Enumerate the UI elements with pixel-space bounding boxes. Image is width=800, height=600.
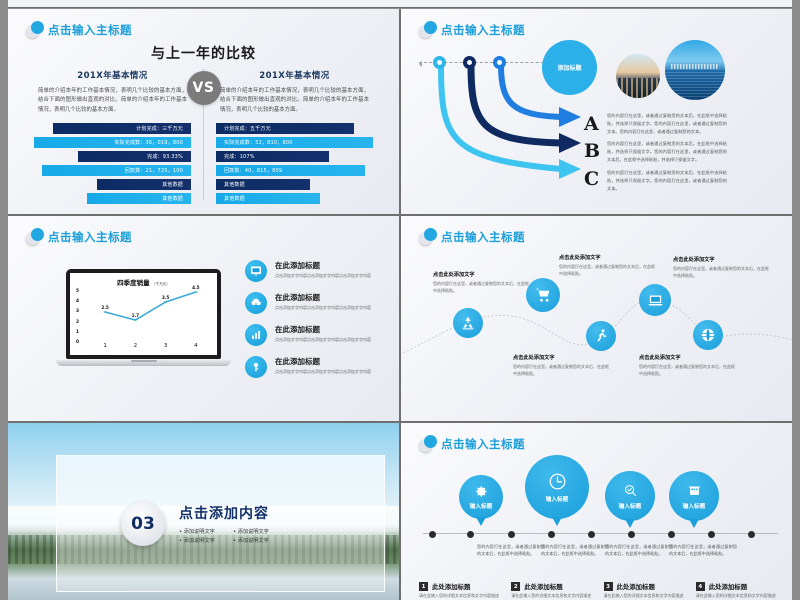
footer-title: 此处添加标题 bbox=[709, 582, 747, 591]
section-bullet: 添加说明文字 bbox=[233, 528, 269, 535]
feature-desc: 点击添加文字内容点击添加文字内容点击添加文字内容 bbox=[275, 337, 371, 344]
chart-data-label: 3.5 bbox=[162, 295, 169, 300]
right-paragraph: 简单的介绍本年的工作基本情况，表明几个比较的基本方面，结合下面的图形做出直观的对… bbox=[220, 87, 369, 115]
section-bullet: 添加说明文字 bbox=[233, 537, 269, 544]
comparison-bar: 完成：93.33% bbox=[78, 151, 191, 162]
footer-title: 此处添加标题 bbox=[524, 582, 562, 591]
process-node[interactable] bbox=[453, 308, 483, 338]
comparison-bar: 回款数：40，815，809 bbox=[216, 165, 365, 176]
slide-1-title: 与上一年的比较 bbox=[8, 43, 399, 63]
comparison-bar-label: 实际完成数：36，019，800 bbox=[114, 139, 183, 146]
section-card: 03 点击添加内容 添加说明文字添加说明文字添加说明文字添加说明文字 bbox=[56, 455, 385, 592]
footer-item[interactable]: 2此处添加标题请在此输入您的详细文本信息和文字内容描述 bbox=[511, 582, 595, 600]
process-caption: 点击此处添加文字您的内容打在这里，或者通过复制您的文本后，在此框中选择粘贴。 bbox=[513, 354, 611, 377]
process-caption-title: 点击此处添加文字 bbox=[639, 354, 737, 361]
footer-text: 请在此输入您的详细文本信息和文字内容描述 bbox=[604, 593, 688, 600]
feature-text: 在此添加标题点击添加文字内容点击添加文字内容点击添加文字内容 bbox=[275, 356, 371, 376]
comparison-bar: 其他数据 bbox=[97, 179, 191, 190]
slide-1-comparison[interactable]: 点击输入主标题 与上一年的比较 VS 201X年基本情况 简单的介绍本年的工作基… bbox=[8, 9, 399, 214]
chart-data-label: 1.7 bbox=[132, 313, 139, 318]
timeline-description: 您的内容打在这里，或者通过复制您的文本后，在此框中选择粘贴。 bbox=[669, 543, 737, 558]
comparison-right-column: 201X年基本情况 简单的介绍本年的工作基本情况，表明几个比较的基本方面，结合下… bbox=[206, 69, 383, 200]
slide-3-header-text: 点击输入主标题 bbox=[48, 229, 132, 245]
feature-item[interactable]: 在此添加标题点击添加文字内容点击添加文字内容点击添加文字内容 bbox=[245, 324, 385, 346]
bar-chart-icon bbox=[250, 329, 262, 341]
feature-desc: 点击添加文字内容点击添加文字内容点击添加文字内容 bbox=[275, 369, 371, 376]
feature-item[interactable]: 在此添加标题点击添加文字内容点击添加文字内容点击添加文字内容 bbox=[245, 292, 385, 314]
footer-badge: 1 bbox=[419, 582, 428, 591]
process-node[interactable] bbox=[526, 278, 560, 312]
chart-data-label: 4.5 bbox=[192, 285, 199, 290]
timeline-node-1[interactable] bbox=[433, 56, 446, 69]
footer-title: 此处添加标题 bbox=[432, 582, 470, 591]
key-icon bbox=[245, 356, 267, 378]
comparison-bar-label: 完成：93.33% bbox=[147, 153, 183, 160]
city-skyline-photo bbox=[616, 54, 660, 98]
laptop-mockup: 四季度销量 （千万元） 543210 2.51.73.54.5 1234 bbox=[66, 269, 221, 366]
chart-y-tick: 0 bbox=[76, 340, 79, 345]
chart-x-tick: 4 bbox=[194, 343, 198, 349]
recycle-icon bbox=[460, 315, 476, 331]
section-text-block: 点击添加内容 添加说明文字添加说明文字添加说明文字添加说明文字 bbox=[179, 503, 269, 544]
footer-text: 请在此输入您的详细文本信息和文字内容描述 bbox=[511, 593, 595, 600]
chart-y-tick: 5 bbox=[76, 289, 79, 294]
chart-x-axis: 1234 bbox=[90, 343, 211, 349]
slide-4-nodes: 点击此处添加文字您的内容打在这里，或者通过复制您的文本后，在此框中选择粘贴。点击… bbox=[401, 216, 792, 421]
footer-item[interactable]: 3此处添加标题请在此输入您的详细文本信息和文字内容描述 bbox=[604, 582, 688, 600]
presentation-icon bbox=[250, 265, 262, 277]
bubble-icon bbox=[26, 21, 43, 38]
footer-item[interactable]: 4此处添加标题请在此输入您的详细文本信息和文字内容描述 bbox=[696, 582, 780, 600]
process-caption-title: 点击此处添加文字 bbox=[673, 256, 771, 263]
feature-item[interactable]: 在此添加标题点击添加文字内容点击添加文字内容点击添加文字内容 bbox=[245, 260, 385, 282]
comparison-bar: 回款数：21，725，100 bbox=[42, 165, 191, 176]
left-paragraph: 简单的介绍本年的工作基本情况，表明几个比较的基本方面，结合下面的图形做出直观的对… bbox=[38, 87, 187, 115]
process-caption: 点击此处添加文字您的内容打在这里，或者通过复制您的文本后，在此框中选择粘贴。 bbox=[673, 256, 771, 279]
chart-data-label: 2.5 bbox=[101, 305, 108, 310]
timeline-node-2[interactable] bbox=[463, 56, 476, 69]
chart-x-tick: 3 bbox=[164, 343, 168, 349]
chart-y-tick: 4 bbox=[76, 299, 79, 304]
chart-subtitle: （千万元） bbox=[152, 282, 170, 286]
footer-text: 请在此输入您的详细文本信息和文字内容描述 bbox=[419, 593, 503, 600]
chart-x-tick: 2 bbox=[134, 343, 138, 349]
key-icon bbox=[250, 361, 262, 373]
feature-title: 在此添加标题 bbox=[275, 356, 371, 367]
footer-item[interactable]: 1此处添加标题请在此输入您的详细文本信息和文字内容描述 bbox=[419, 582, 503, 600]
add-title-circle[interactable]: 添加标题 bbox=[542, 40, 597, 95]
process-node[interactable] bbox=[586, 321, 616, 351]
comparison-bar-label: 其他数据 bbox=[162, 181, 183, 188]
timeline-description: 您的内容打在这里，或者通过复制您的文本后，在此框中选择粘贴。 bbox=[605, 543, 673, 558]
letter-c: C bbox=[584, 168, 599, 190]
shopping-cart-icon bbox=[534, 286, 552, 304]
laptop-icon bbox=[647, 292, 664, 309]
slide-thumbnail-grid-page: 点击输入主标题 与上一年的比较 VS 201X年基本情况 简单的介绍本年的工作基… bbox=[0, 0, 800, 600]
chart-y-tick: 2 bbox=[76, 320, 79, 325]
cloud-download-icon bbox=[250, 297, 262, 309]
comparison-left-column: 201X年基本情况 简单的介绍本年的工作基本情况，表明几个比较的基本方面，结合下… bbox=[24, 69, 201, 200]
cloud-download-icon bbox=[245, 292, 267, 314]
section-bullet: 添加说明文字 bbox=[179, 537, 215, 544]
feature-text: 在此添加标题点击添加文字内容点击添加文字内容点击添加文字内容 bbox=[275, 292, 371, 312]
left-subtitle: 201X年基本情况 bbox=[34, 69, 191, 81]
footer-title: 此处添加标题 bbox=[617, 582, 655, 591]
vs-badge: VS bbox=[187, 71, 221, 105]
comparison-bar: 其他数据 bbox=[87, 193, 191, 204]
comparison-bar: 完成：107% bbox=[216, 151, 329, 162]
feature-text: 在此添加标题点击添加文字内容点击添加文字内容点击添加文字内容 bbox=[275, 260, 371, 280]
comparison-bar-label: 回款数：40，815，809 bbox=[224, 167, 282, 174]
process-node[interactable] bbox=[639, 284, 671, 316]
section-content: 03 点击添加内容 添加说明文字添加说明文字添加说明文字添加说明文字 bbox=[121, 502, 269, 546]
feature-title: 在此添加标题 bbox=[275, 324, 371, 335]
comparison-bar-label: 计划完成：五千万元 bbox=[224, 125, 271, 132]
footer-items: 1此处添加标题请在此输入您的详细文本信息和文字内容描述2此处添加标题请在此输入您… bbox=[419, 582, 780, 600]
section-bullet: 添加说明文字 bbox=[179, 528, 215, 535]
laptop-base bbox=[56, 360, 231, 366]
comparison-bar: 计划完成：三千万元 bbox=[53, 123, 191, 134]
timeline-description: 您的内容打在这里，或者通过复制您的文本后，在此框中选择粘贴。 bbox=[541, 543, 609, 558]
section-title: 点击添加内容 bbox=[179, 503, 269, 523]
bubble-icon bbox=[26, 228, 43, 245]
bar-chart-icon bbox=[245, 324, 267, 346]
presentation-icon bbox=[245, 260, 267, 282]
laptop-screen: 四季度销量 （千万元） 543210 2.51.73.54.5 1234 bbox=[66, 269, 221, 359]
feature-desc: 点击添加文字内容点击添加文字内容点击添加文字内容 bbox=[275, 273, 371, 280]
slide-1-header: 点击输入主标题 bbox=[26, 21, 132, 38]
comparison-bar-label: 其他数据 bbox=[224, 195, 245, 202]
comparison-bar-label: 计划完成：三千万元 bbox=[136, 125, 183, 132]
chart-canvas: 四季度销量 （千万元） 543210 2.51.73.54.5 1234 bbox=[70, 273, 217, 355]
letter-c-text: 您的内容打在这里，或者通过复制您的文本后，在此框中选择粘贴，并选择只保留文字。您… bbox=[607, 169, 727, 192]
section-number: 03 bbox=[121, 502, 165, 546]
feature-title: 在此添加标题 bbox=[275, 292, 371, 303]
slide-3-header: 点击输入主标题 bbox=[26, 228, 132, 245]
process-caption-text: 您的内容打在这里，或者通过复制您的文本后，在此框中选择粘贴。 bbox=[559, 263, 657, 277]
footer-text: 请在此输入您的详细文本信息和文字内容描述 bbox=[696, 593, 780, 600]
partial-slide-strip bbox=[8, 0, 792, 8]
comparison-bar: 实际完成数：52，810，800 bbox=[216, 137, 373, 148]
process-node[interactable] bbox=[693, 320, 723, 350]
right-bar-list: 计划完成：五千万元实际完成数：52，810，800完成：107%回款数：40，8… bbox=[216, 123, 373, 204]
process-caption-text: 您的内容打在这里，或者通过复制您的文本后，在此框中选择粘贴。 bbox=[433, 280, 531, 294]
slide-1-header-text: 点击输入主标题 bbox=[48, 22, 132, 38]
right-subtitle: 201X年基本情况 bbox=[216, 69, 373, 81]
process-caption: 点击此处添加文字您的内容打在这里，或者通过复制您的文本后，在此框中选择粘贴。 bbox=[559, 254, 657, 277]
comparison-bar: 实际完成数：36，019，800 bbox=[34, 137, 191, 148]
process-caption-title: 点击此处添加文字 bbox=[433, 271, 531, 278]
chart-x-tick: 1 bbox=[103, 343, 107, 349]
slide-2-abc-arrows[interactable]: 点击输入主标题 添加标题 A B C 您的内容打在这里，或者通过复制您的文本后，… bbox=[401, 9, 792, 214]
aerial-coastline-photo bbox=[665, 40, 725, 100]
runner-icon bbox=[593, 328, 609, 344]
comparison-bar: 计划完成：五千万元 bbox=[216, 123, 354, 134]
footer-badge: 3 bbox=[604, 582, 613, 591]
slide-6-balloon-timeline[interactable]: 点击输入主标题 输入标题输入标题输入标题输入标题 您的内容打在这里，或者通过复制… bbox=[401, 423, 792, 600]
letter-b: B bbox=[584, 140, 600, 162]
feature-title: 在此添加标题 bbox=[275, 260, 371, 271]
chart-title-text: 四季度销量 bbox=[117, 279, 150, 287]
process-caption: 点击此处添加文字您的内容打在这里，或者通过复制您的文本后，在此框中选择粘贴。 bbox=[433, 271, 531, 294]
timeline-description: 您的内容打在这里，或者通过复制您的文本后，在此框中选择粘贴。 bbox=[477, 543, 545, 558]
footer-badge: 4 bbox=[696, 582, 705, 591]
feature-item[interactable]: 在此添加标题点击添加文字内容点击添加文字内容点击添加文字内容 bbox=[245, 356, 385, 378]
process-caption-title: 点击此处添加文字 bbox=[559, 254, 657, 261]
process-caption-title: 点击此处添加文字 bbox=[513, 354, 611, 361]
feature-text: 在此添加标题点击添加文字内容点击添加文字内容点击添加文字内容 bbox=[275, 324, 371, 344]
chart-y-tick: 3 bbox=[76, 309, 79, 314]
slides-grid: 点击输入主标题 与上一年的比较 VS 201X年基本情况 简单的介绍本年的工作基… bbox=[8, 9, 792, 600]
slide-4-process-path[interactable]: 点击输入主标题 点击此处添加文字您的内容打在这里，或者通过复制您的文本后，在此框… bbox=[401, 216, 792, 421]
feature-desc: 点击添加文字内容点击添加文字内容点击添加文字内容 bbox=[275, 305, 371, 312]
process-caption-text: 您的内容打在这里，或者通过复制您的文本后，在此框中选择粘贴。 bbox=[513, 363, 611, 377]
section-bullets: 添加说明文字添加说明文字添加说明文字添加说明文字 bbox=[179, 528, 269, 544]
slide-3-laptop-chart[interactable]: 点击输入主标题 四季度销量 （千万元） 543210 2.51.73.54.5 … bbox=[8, 216, 399, 421]
process-caption-text: 您的内容打在这里，或者通过复制您的文本后，在此框中选择粘贴。 bbox=[639, 363, 737, 377]
chart-plot-area: 2.51.73.54.5 bbox=[90, 287, 211, 337]
comparison-bar-label: 回款数：21，725，100 bbox=[125, 167, 183, 174]
chart-y-axis: 543210 bbox=[76, 289, 79, 345]
slide-5-section-cover[interactable]: 03 点击添加内容 添加说明文字添加说明文字添加说明文字添加说明文字 bbox=[8, 423, 399, 600]
slide-3-feature-list: 在此添加标题点击添加文字内容点击添加文字内容点击添加文字内容在此添加标题点击添加… bbox=[245, 260, 385, 378]
comparison-bar-label: 其他数据 bbox=[162, 195, 183, 202]
process-caption: 点击此处添加文字您的内容打在这里，或者通过复制您的文本后，在此框中选择粘贴。 bbox=[639, 354, 737, 377]
letter-a: A bbox=[584, 113, 599, 135]
globe-icon bbox=[700, 327, 716, 343]
chart-y-tick: 1 bbox=[76, 330, 79, 335]
comparison-bar: 其他数据 bbox=[216, 193, 320, 204]
timeline-node-3[interactable] bbox=[493, 56, 506, 69]
letter-b-text: 您的内容打在这里，或者通过复制您的文本后，在此框中选择粘贴，并选择只保留文字。您… bbox=[607, 140, 727, 163]
comparison-bar-label: 其他数据 bbox=[224, 181, 245, 188]
comparison-bar-label: 完成：107% bbox=[224, 153, 255, 160]
left-bar-list: 计划完成：三千万元实际完成数：36，019，800完成：93.33%回款数：21… bbox=[34, 123, 191, 204]
process-caption-text: 您的内容打在这里，或者通过复制您的文本后，在此框中选择粘贴。 bbox=[673, 265, 771, 279]
comparison-bar: 其他数据 bbox=[216, 179, 310, 190]
comparison-bar-label: 实际完成数：52，810，800 bbox=[224, 139, 293, 146]
descriptions-container: 您的内容打在这里，或者通过复制您的文本后，在此框中选择粘贴。您的内容打在这里，或… bbox=[401, 423, 792, 600]
letter-a-text: 您的内容打在这里，或者通过复制您的文本后，在此框中选择粘贴，并选择只保留文字。您… bbox=[607, 112, 727, 135]
footer-badge: 2 bbox=[511, 582, 520, 591]
